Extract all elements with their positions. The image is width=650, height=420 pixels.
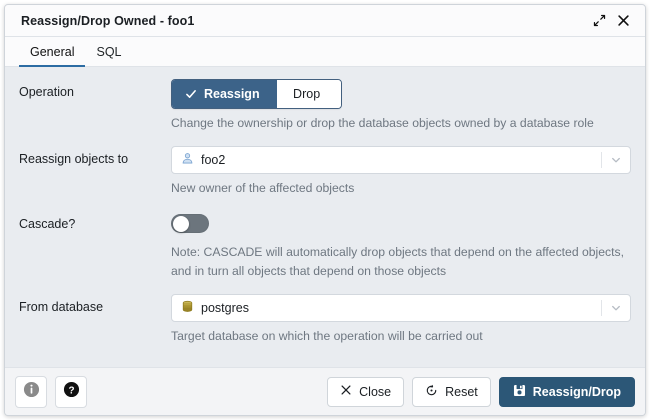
operation-option-reassign-label: Reassign: [204, 87, 260, 101]
cascade-helper-text: Note: CASCADE will automatically drop ob…: [171, 243, 631, 281]
operation-option-drop[interactable]: Drop: [277, 80, 341, 108]
tab-sql-label: SQL: [96, 45, 121, 59]
reassign-objects-to-helper-text: New owner of the affected objects: [171, 179, 631, 198]
user-role-icon: [181, 152, 194, 168]
operation-label: Operation: [19, 79, 171, 100]
reset-button[interactable]: Reset: [412, 377, 491, 407]
reassign-objects-to-select[interactable]: foo2: [171, 146, 631, 174]
close-x-icon: [340, 384, 352, 399]
reset-icon: [425, 384, 438, 400]
chevron-down-icon[interactable]: [602, 302, 630, 314]
operation-helper-text: Change the ownership or drop the databas…: [171, 114, 631, 133]
svg-text:?: ?: [68, 385, 74, 396]
field-from-database: From database postgres: [19, 294, 631, 346]
cascade-toggle-knob: [173, 216, 189, 232]
field-cascade: Cascade? Note: CASCADE will automaticall…: [19, 211, 631, 281]
tab-sql[interactable]: SQL: [85, 38, 132, 67]
dialog-title: Reassign/Drop Owned - foo1: [21, 14, 587, 28]
from-database-label: From database: [19, 294, 171, 315]
check-icon: [185, 88, 197, 100]
tab-general-label: General: [30, 45, 74, 59]
operation-segmented-control[interactable]: Reassign Drop: [171, 79, 342, 109]
expand-icon[interactable]: [587, 9, 611, 33]
info-button[interactable]: [15, 376, 47, 408]
database-icon: [181, 300, 194, 316]
operation-option-drop-label: Drop: [293, 87, 320, 101]
tab-bar: General SQL: [5, 37, 645, 67]
close-button[interactable]: Close: [327, 377, 404, 407]
submit-button[interactable]: Reassign/Drop: [499, 377, 635, 407]
from-database-helper-text: Target database on which the operation w…: [171, 327, 631, 346]
dialog-window: Reassign/Drop Owned - foo1 General SQL O…: [4, 4, 646, 416]
reassign-objects-to-label: Reassign objects to: [19, 146, 171, 167]
cascade-toggle[interactable]: [171, 214, 209, 233]
field-operation: Operation Reassign Drop Ch: [19, 79, 631, 133]
from-database-select[interactable]: postgres: [171, 294, 631, 322]
chevron-down-icon[interactable]: [602, 154, 630, 166]
dialog-body: Operation Reassign Drop Ch: [5, 67, 645, 367]
cascade-label: Cascade?: [19, 211, 171, 232]
from-database-value: postgres: [201, 301, 249, 315]
help-icon: ?: [63, 381, 80, 403]
help-button[interactable]: ?: [55, 376, 87, 408]
reset-button-label: Reset: [445, 385, 478, 399]
dialog-titlebar: Reassign/Drop Owned - foo1: [5, 5, 645, 37]
submit-button-label: Reassign/Drop: [533, 385, 621, 399]
close-button-label: Close: [359, 385, 391, 399]
close-icon[interactable]: [611, 9, 635, 33]
info-icon: [23, 381, 40, 403]
save-icon: [513, 384, 526, 400]
tab-general[interactable]: General: [19, 38, 85, 67]
operation-option-reassign[interactable]: Reassign: [172, 80, 277, 108]
field-reassign-objects-to: Reassign objects to foo2: [19, 146, 631, 198]
dialog-footer: ? Close Reset: [5, 367, 645, 415]
reassign-objects-to-value: foo2: [201, 153, 225, 167]
